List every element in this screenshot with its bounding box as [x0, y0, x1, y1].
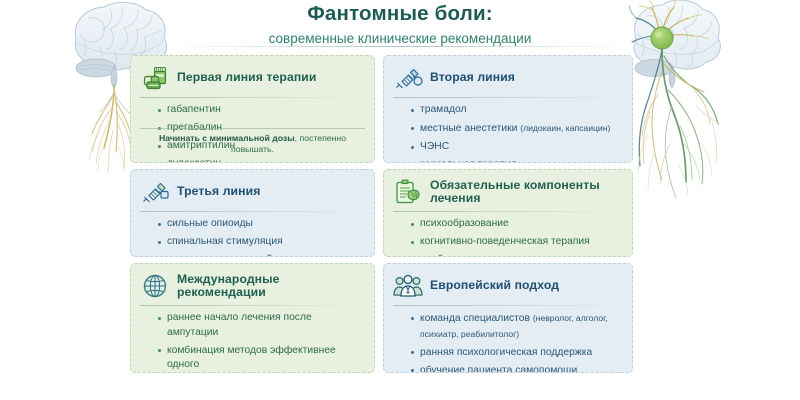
card-header: Обязательные компоненты лечения: [393, 177, 623, 207]
list-item-text: ЧЭНС: [420, 141, 449, 152]
list-item: дулоксетин: [158, 157, 365, 163]
footnote-text: Начинать с минимальной дозы, постепенно …: [140, 133, 365, 155]
list-item-text: сильные опиоиды: [167, 218, 253, 229]
card-item-list: раннее начало лечения после ампутации ко…: [140, 311, 365, 373]
card-title: Обязательные компоненты лечения: [430, 179, 623, 206]
card-title-divider: [393, 211, 623, 212]
list-item-text: спинальная стимуляция: [167, 236, 283, 247]
card-item-list: трамадол местные анестетики (лидокаин, к…: [393, 103, 623, 163]
card-first-line-therapy[interactable]: Первая линия терапии габапентин прегабал…: [130, 55, 375, 163]
medical-team-icon: [393, 272, 423, 300]
list-item: местные анестетики (лидокаин, капсаицин): [411, 121, 623, 137]
card-title: Европейский подход: [430, 279, 559, 292]
card-title-divider: [393, 305, 623, 306]
card-item-list: команда специалистов (невролог, алголог,…: [393, 311, 623, 373]
list-item-text: габапентин: [167, 104, 221, 115]
recommendation-card-grid: Первая линия терапии габапентин прегабал…: [130, 55, 670, 373]
card-third-line[interactable]: Третья линия сильные опиоиды спинальная …: [130, 169, 375, 257]
list-item: реабилитация: [411, 253, 623, 257]
list-item: спинальная стимуляция: [158, 235, 365, 250]
card-international-recommendations[interactable]: Международные рекомендации раннее начало…: [130, 263, 375, 373]
list-item: обучение пациента самопомощи: [411, 364, 623, 373]
card-header: Вторая линия: [393, 63, 623, 93]
footnote-bold: Начинать с минимальной дозы: [159, 133, 295, 143]
list-item-text: ранняя психологическая поддержка: [420, 347, 592, 358]
card-mandatory-components[interactable]: Обязательные компоненты лечения психообр…: [383, 169, 633, 257]
list-item: раннее начало лечения после ампутации: [158, 311, 365, 340]
card-title-divider: [140, 211, 365, 212]
list-item-text: стимуляция моторной коры: [167, 254, 299, 257]
card-title: Вторая линия: [430, 71, 515, 84]
card-second-line[interactable]: Вторая линия трамадол местные анестетики…: [383, 55, 633, 163]
card-item-list: сильные опиоиды спинальная стимуляция ст…: [140, 217, 365, 257]
syringe-icon: [393, 64, 423, 92]
card-title: Международные рекомендации: [177, 273, 365, 300]
page-title: Фантомные боли:: [0, 2, 800, 26]
list-item-text: раннее начало лечения после ампутации: [167, 312, 312, 338]
header: Фантомные боли: современные клинические …: [0, 2, 800, 47]
pill-bottles-icon: [140, 64, 170, 92]
card-footnote: Начинать с минимальной дозы, постепенно …: [140, 128, 365, 155]
list-item-text: обучение пациента самопомощи: [420, 365, 577, 373]
infographic-canvas: Фантомные боли: современные клинические …: [0, 0, 800, 400]
list-item: комбинация методов эффективнее одного: [158, 344, 365, 373]
list-item-text: когнитивно-поведенческая терапия: [420, 236, 590, 247]
list-item: когнитивно-поведенческая терапия: [411, 235, 623, 250]
card-header: Третья линия: [140, 177, 365, 207]
syringe-icon: [140, 178, 170, 206]
list-item: сильные опиоиды: [158, 217, 365, 232]
clipboard-brain-icon: [393, 178, 423, 206]
globe-icon: [140, 272, 170, 300]
list-item-text: зеркальная терапия: [420, 159, 516, 163]
list-item: зеркальная терапия: [411, 158, 623, 163]
card-title-divider: [393, 97, 623, 98]
card-header: Первая линия терапии: [140, 63, 365, 93]
list-item-text: местные анестетики: [420, 123, 520, 134]
header-divider: [172, 46, 628, 47]
list-item: ранняя психологическая поддержка: [411, 346, 623, 361]
list-item: психообразование: [411, 217, 623, 232]
card-item-list: психообразование когнитивно-поведенческа…: [393, 217, 623, 257]
list-item-text: трамадол: [420, 104, 467, 115]
card-header: Европейский подход: [393, 271, 623, 301]
card-title: Первая линия терапии: [177, 71, 317, 84]
list-item: трамадол: [411, 103, 623, 118]
card-title-divider: [140, 97, 365, 98]
list-item: стимуляция моторной коры: [158, 253, 365, 257]
list-item-text: комбинация методов эффективнее одного: [167, 345, 336, 371]
list-item: команда специалистов (невролог, алголог,…: [411, 311, 623, 342]
list-item: ЧЭНС: [411, 140, 623, 155]
card-header: Международные рекомендации: [140, 271, 365, 301]
list-item: габапентин: [158, 103, 365, 118]
card-title: Третья линия: [177, 185, 260, 198]
list-item-text: команда специалистов: [420, 313, 533, 324]
list-item-parenthetical: (лидокаин, капсаицин): [520, 123, 610, 133]
page-subtitle: современные клинические рекомендации: [0, 31, 800, 47]
card-european-approach[interactable]: Европейский подход команда специалистов …: [383, 263, 633, 373]
card-title-divider: [140, 305, 365, 306]
list-item-text: реабилитация: [420, 254, 488, 257]
list-item-text: психообразование: [420, 218, 509, 229]
footnote-divider: [140, 128, 365, 129]
list-item-text: дулоксетин: [167, 158, 221, 163]
